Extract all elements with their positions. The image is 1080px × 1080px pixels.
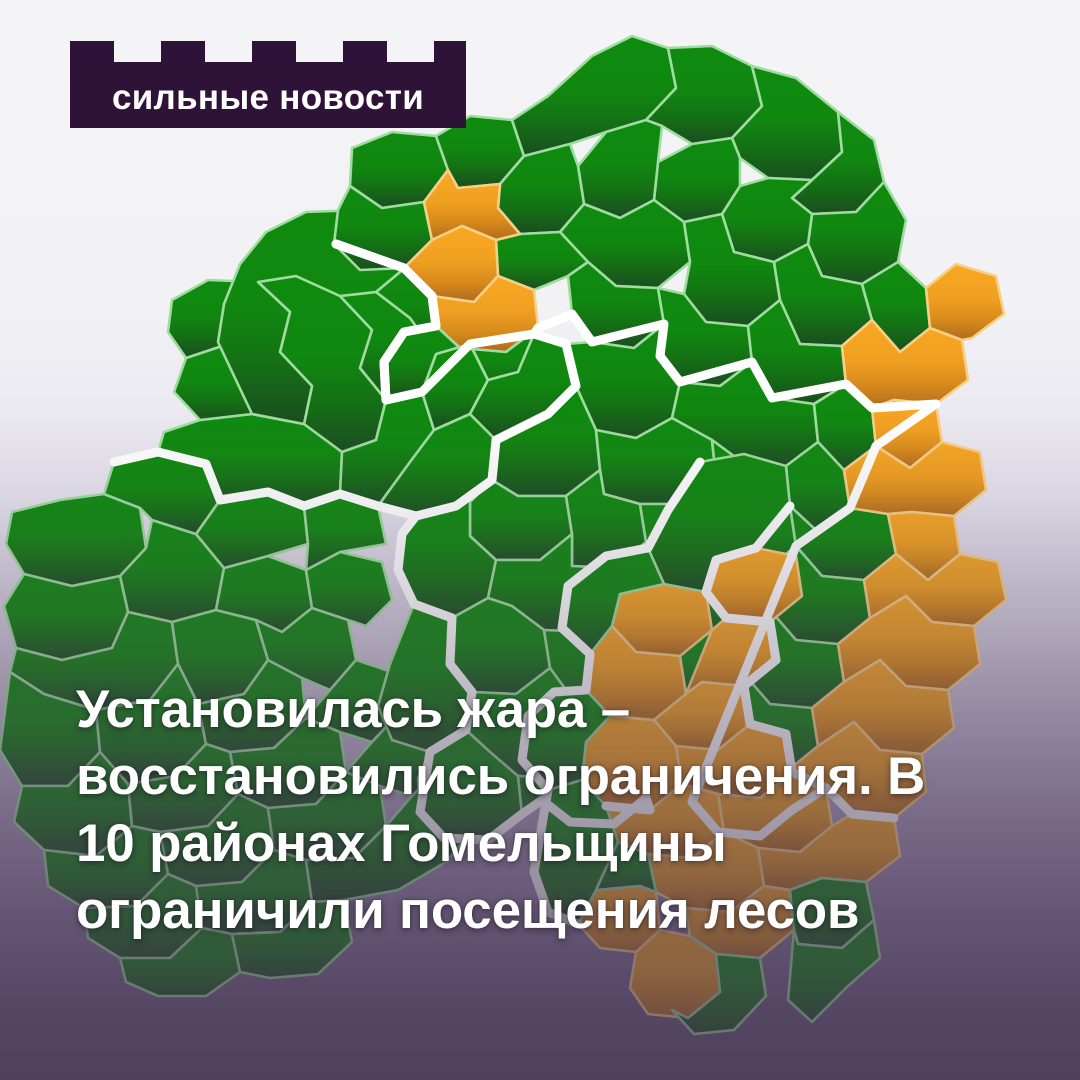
district [4,574,128,660]
poster-canvas: сильные новости Установилась жара – восс… [0,0,1080,1080]
brand-badge-label: сильные новости [70,67,466,127]
headline-text: Установилась жара – восстановились огран… [76,676,976,944]
district-restricted [926,264,1004,340]
brand-badge[interactable]: сильные новости [70,41,466,128]
